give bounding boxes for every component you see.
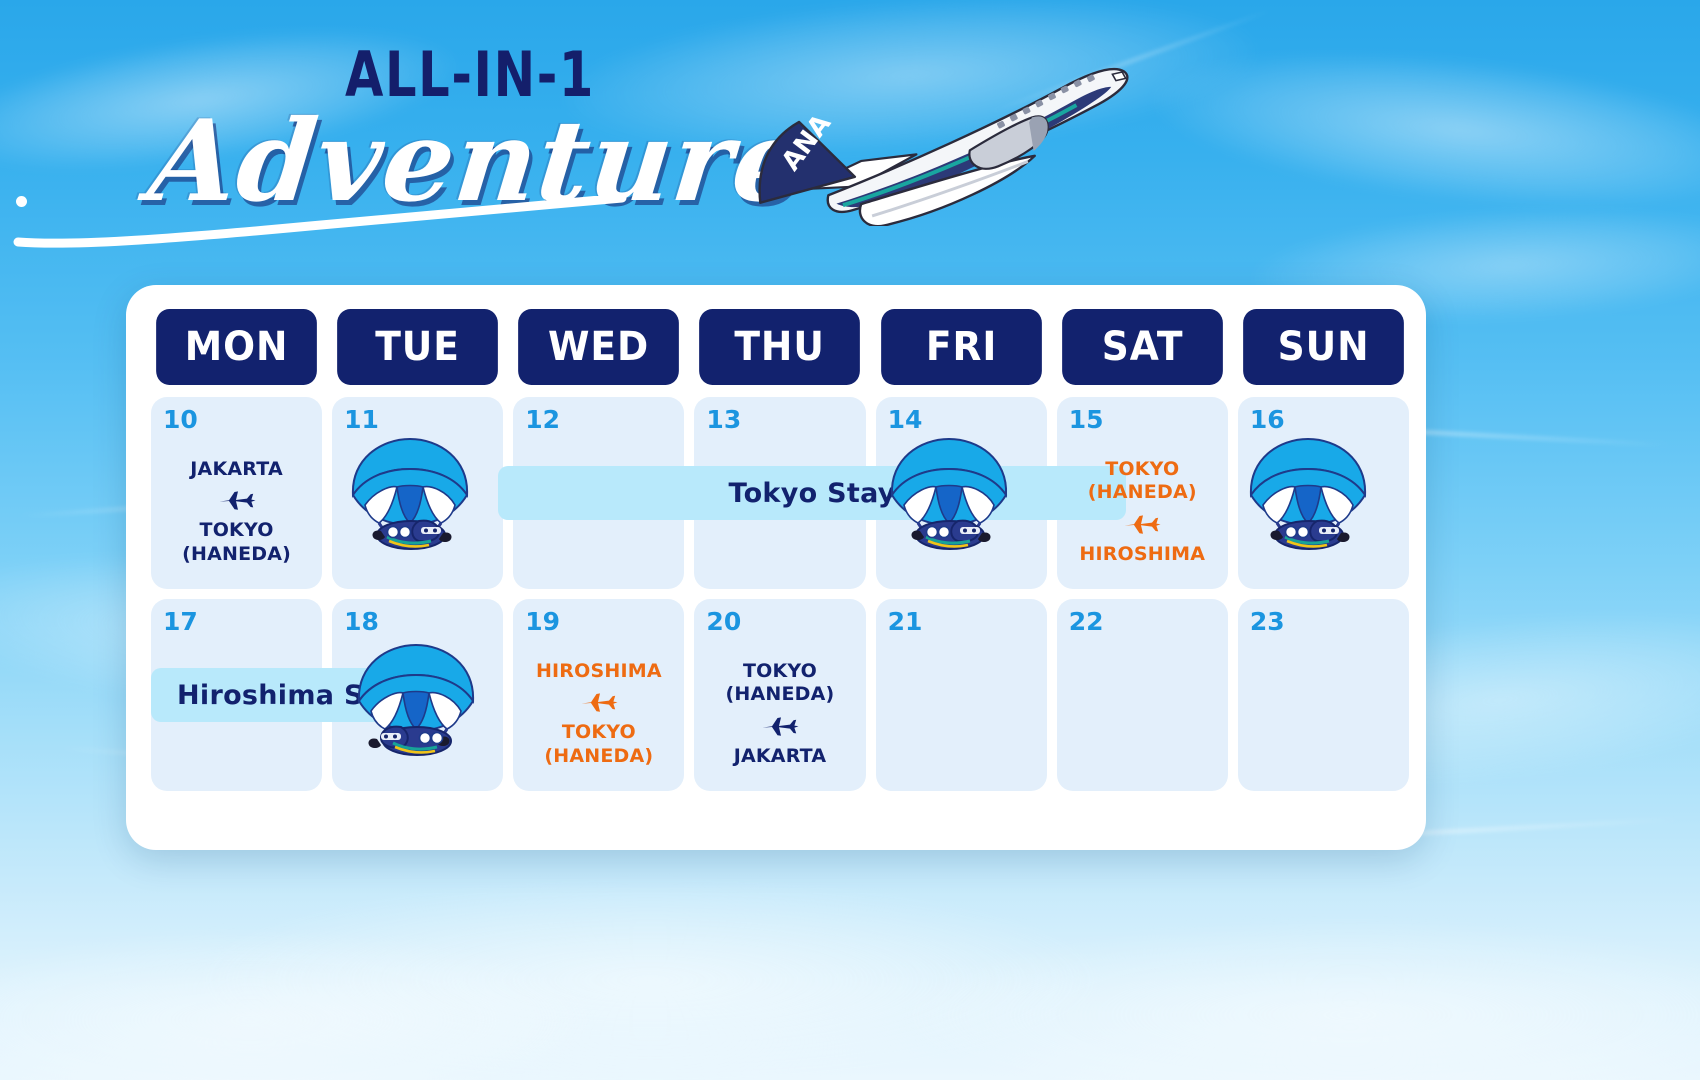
- itinerary-destination: TOKYO: [562, 722, 636, 743]
- airplane-icon: [1122, 509, 1162, 539]
- calendar-cell-10[interactable]: 10 JAKARTA TOKYO (HANEDA): [151, 397, 322, 589]
- date-number: 18: [344, 609, 495, 634]
- title-block: ALL-IN-1 Adventure: [150, 38, 790, 219]
- itinerary-origin-airport: (HANEDA): [1088, 482, 1197, 503]
- airplane-icon: [217, 485, 257, 515]
- stay-banner-label: Hiroshima Stay: [177, 680, 413, 711]
- cell-content: HIROSHIMA TOKYO (HANEDA): [513, 643, 684, 785]
- day-header-thu[interactable]: THU: [700, 309, 861, 385]
- cell-content: JAKARTA TOKYO (HANEDA): [151, 441, 322, 583]
- title-underline-swoosh: [10, 196, 630, 248]
- calendar-cell-20[interactable]: 20 TOKYO (HANEDA) JAKARTA: [694, 599, 865, 791]
- itinerary-destination: TOKYO: [200, 520, 274, 541]
- calendar-weeks: 10 JAKARTA TOKYO (HANEDA) 11: [151, 397, 1409, 791]
- itinerary-origin-airport: (HANEDA): [726, 684, 835, 705]
- calendar-cell-21[interactable]: 21: [876, 599, 1047, 791]
- itinerary-destination-airport: (HANEDA): [182, 544, 291, 565]
- date-number: 20: [706, 609, 857, 634]
- itinerary-destination: HIROSHIMA: [1079, 544, 1205, 565]
- calendar-cell-11[interactable]: 11: [332, 397, 503, 589]
- date-number: 16: [1250, 407, 1401, 432]
- day-header-row: MON TUE WED THU FRI SAT SUN: [151, 309, 1409, 385]
- stay-banner-hiroshima: Hiroshima Stay: [151, 668, 447, 722]
- calendar-panel: MON TUE WED THU FRI SAT SUN 10 JAKARTA: [126, 285, 1426, 850]
- itinerary-origin: JAKARTA: [190, 459, 283, 480]
- stay-banner-tokyo: Tokyo Stay: [498, 466, 1126, 520]
- airplane-icon: [760, 711, 800, 741]
- airplane-icon: [579, 687, 619, 717]
- itinerary-destination: JAKARTA: [734, 746, 827, 767]
- day-header-mon[interactable]: MON: [156, 309, 317, 385]
- date-number: 13: [706, 407, 857, 432]
- date-number: 11: [344, 407, 495, 432]
- cell-content: TOKYO (HANEDA) JAKARTA: [694, 643, 865, 785]
- day-header-fri[interactable]: FRI: [881, 309, 1042, 385]
- date-number: 17: [163, 609, 314, 634]
- itinerary-origin: TOKYO: [1105, 459, 1179, 480]
- day-header-sat[interactable]: SAT: [1062, 309, 1223, 385]
- calendar-cell-19[interactable]: 19 HIROSHIMA TOKYO (HANEDA): [513, 599, 684, 791]
- day-header-wed[interactable]: WED: [518, 309, 679, 385]
- calendar-cell-15[interactable]: 15 TOKYO (HANEDA) HIROSHIMA: [1057, 397, 1228, 589]
- itinerary-origin: TOKYO: [743, 661, 817, 682]
- date-number: 21: [888, 609, 1039, 634]
- date-number: 22: [1069, 609, 1220, 634]
- stay-banner-label: Tokyo Stay: [728, 478, 895, 509]
- calendar-grid: MON TUE WED THU FRI SAT SUN 10 JAKARTA: [151, 309, 1409, 801]
- date-number: 10: [163, 407, 314, 432]
- date-number: 15: [1069, 407, 1220, 432]
- itinerary-destination-airport: (HANEDA): [544, 746, 653, 767]
- date-number: 12: [525, 407, 676, 432]
- cell-content: TOKYO (HANEDA) HIROSHIMA: [1057, 441, 1228, 583]
- calendar-week-2: 17 18 19 HIROSHIMA TOKYO (HA: [151, 599, 1409, 791]
- ana-airplane-icon: ANA: [700, 66, 1170, 226]
- date-number: 23: [1250, 609, 1401, 634]
- date-number: 14: [888, 407, 1039, 432]
- date-number: 19: [525, 609, 676, 634]
- itinerary-origin: HIROSHIMA: [536, 661, 662, 682]
- calendar-cell-23[interactable]: 23: [1238, 599, 1409, 791]
- day-header-sun[interactable]: SUN: [1243, 309, 1404, 385]
- calendar-cell-22[interactable]: 22: [1057, 599, 1228, 791]
- calendar-cell-16[interactable]: 16: [1238, 397, 1409, 589]
- day-header-tue[interactable]: TUE: [337, 309, 498, 385]
- calendar-week-1: 10 JAKARTA TOKYO (HANEDA) 11: [151, 397, 1409, 589]
- page-header: ALL-IN-1 Adventure ANA: [0, 0, 1700, 300]
